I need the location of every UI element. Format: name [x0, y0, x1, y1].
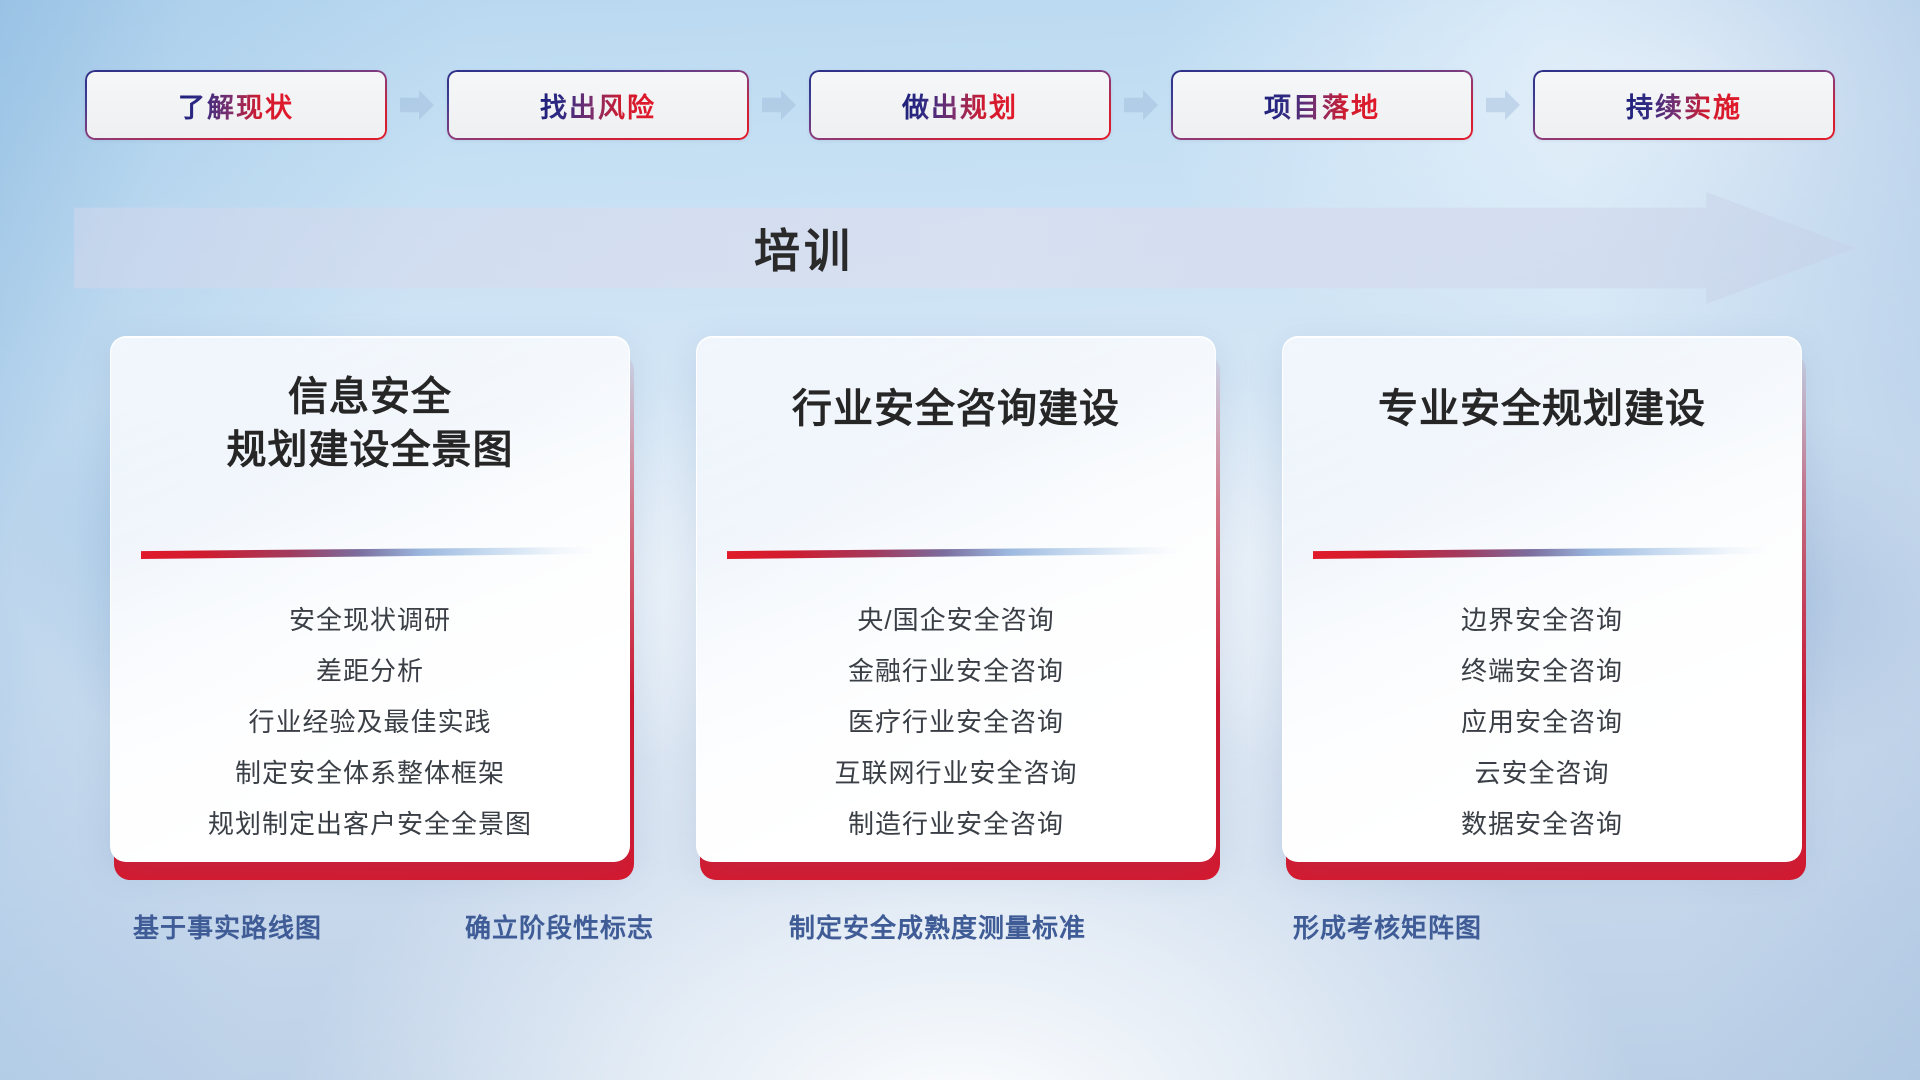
card-1[interactable]: 信息安全 规划建设全景图 安全现状调研 差距分析 行业经验及最佳实践 制定安全体…	[110, 336, 638, 884]
card-2-panel: 行业安全咨询建设 央/国企安全咨询 金融行业安全咨询 医疗行业安全咨询 互联网行…	[696, 336, 1216, 862]
list-item: 差距分析	[316, 646, 424, 697]
step-box-2[interactable]: 找出风险	[447, 70, 749, 140]
list-item: 制造行业安全咨询	[848, 799, 1064, 850]
card-1-list: 安全现状调研 差距分析 行业经验及最佳实践 制定安全体系整体框架 规划制定出客户…	[111, 595, 629, 850]
banner-title: 培训	[74, 192, 1534, 304]
list-item: 应用安全咨询	[1461, 697, 1623, 748]
list-item: 数据安全咨询	[1461, 799, 1623, 850]
list-item: 终端安全咨询	[1461, 646, 1623, 697]
arrow-right-icon-2	[762, 90, 796, 120]
step-box-1[interactable]: 了解现状	[85, 70, 387, 140]
step-label-3: 做出规划	[902, 86, 1018, 125]
card-3-title: 专业安全规划建设	[1283, 383, 1801, 436]
list-item: 行业经验及最佳实践	[248, 697, 491, 748]
step-label-1: 了解现状	[178, 86, 294, 125]
training-banner: 培训	[74, 192, 1856, 304]
bottom-label-row: 基于事实路线图 确立阶段性标志 制定安全成熟度测量标准 形成考核矩阵图	[0, 908, 1920, 968]
list-item: 制定安全体系整体框架	[235, 748, 505, 799]
card-1-panel: 信息安全 规划建设全景图 安全现状调研 差距分析 行业经验及最佳实践 制定安全体…	[110, 336, 630, 862]
bottom-label-1: 基于事实路线图	[133, 908, 322, 945]
step-box-5[interactable]: 持续实施	[1533, 70, 1835, 140]
card-row: 信息安全 规划建设全景图 安全现状调研 差距分析 行业经验及最佳实践 制定安全体…	[0, 336, 1920, 884]
card-3-divider	[1313, 547, 1765, 559]
list-item: 规划制定出客户安全全景图	[208, 799, 532, 850]
card-2-divider	[727, 547, 1179, 559]
card-1-title: 信息安全 规划建设全景图	[111, 371, 629, 477]
arrow-right-icon-1	[400, 90, 434, 120]
card-2-title: 行业安全咨询建设	[697, 383, 1215, 436]
card-3-panel: 专业安全规划建设 边界安全咨询 终端安全咨询 应用安全咨询 云安全咨询 数据安全…	[1282, 336, 1802, 862]
step-box-4[interactable]: 项目落地	[1171, 70, 1473, 140]
step-label-5: 持续实施	[1626, 86, 1742, 125]
list-item: 医疗行业安全咨询	[848, 697, 1064, 748]
card-2-list: 央/国企安全咨询 金融行业安全咨询 医疗行业安全咨询 互联网行业安全咨询 制造行…	[697, 595, 1215, 850]
bottom-label-4: 形成考核矩阵图	[1293, 908, 1482, 945]
process-step-row: 了解现状 找出风险 做出规划 项目落地 持续实施	[0, 66, 1920, 144]
arrow-right-icon-4	[1486, 90, 1520, 120]
list-item: 云安全咨询	[1474, 748, 1609, 799]
list-item: 金融行业安全咨询	[848, 646, 1064, 697]
card-3[interactable]: 专业安全规划建设 边界安全咨询 终端安全咨询 应用安全咨询 云安全咨询 数据安全…	[1282, 336, 1810, 884]
arrow-right-icon-3	[1124, 90, 1158, 120]
card-3-list: 边界安全咨询 终端安全咨询 应用安全咨询 云安全咨询 数据安全咨询	[1283, 595, 1801, 850]
step-box-3[interactable]: 做出规划	[809, 70, 1111, 140]
list-item: 边界安全咨询	[1461, 595, 1623, 646]
step-label-4: 项目落地	[1264, 86, 1380, 125]
bottom-label-2: 确立阶段性标志	[465, 908, 654, 945]
card-1-divider	[141, 547, 593, 559]
bottom-label-3: 制定安全成熟度测量标准	[789, 908, 1086, 945]
list-item: 互联网行业安全咨询	[834, 748, 1077, 799]
step-label-2: 找出风险	[540, 86, 656, 125]
list-item: 央/国企安全咨询	[857, 595, 1054, 646]
list-item: 安全现状调研	[289, 595, 451, 646]
card-2[interactable]: 行业安全咨询建设 央/国企安全咨询 金融行业安全咨询 医疗行业安全咨询 互联网行…	[696, 336, 1224, 884]
